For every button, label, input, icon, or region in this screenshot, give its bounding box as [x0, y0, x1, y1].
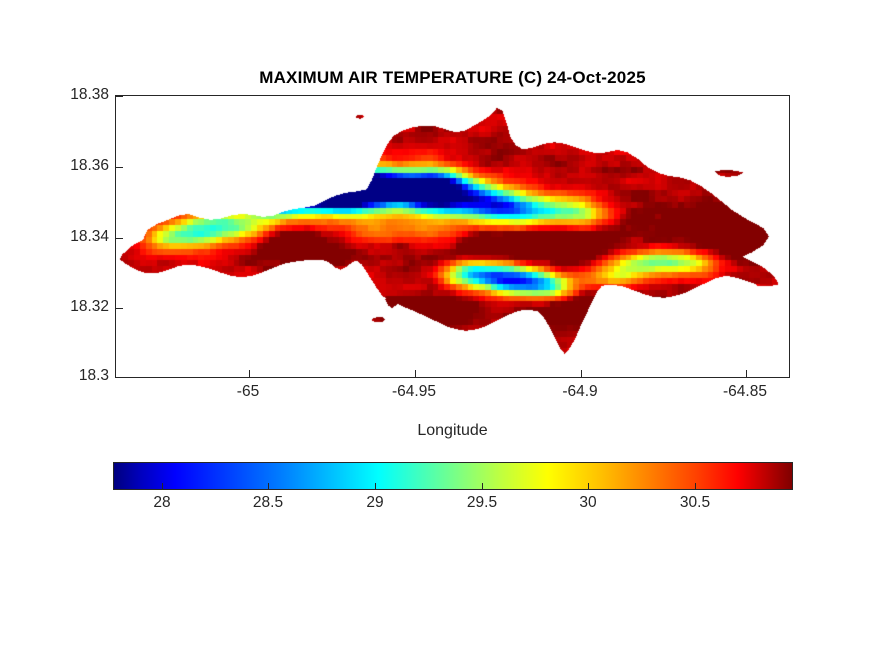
colorbar-tick-label: 29 — [325, 494, 425, 512]
x-tick-mark — [249, 370, 250, 377]
y-tick-label: 18.34 — [47, 228, 109, 246]
x-tick-label: -64.9 — [535, 383, 625, 401]
page-title: MAXIMUM AIR TEMPERATURE (C) 24-Oct-2025 — [115, 68, 790, 88]
colorbar-tick-labels: 28 28.5 29 29.5 30 30.5 — [63, 494, 843, 518]
x-tick-mark — [415, 370, 416, 377]
x-axis-title: Longitude — [115, 422, 790, 440]
figure-canvas: MAXIMUM AIR TEMPERATURE (C) 24-Oct-2025 … — [0, 0, 875, 656]
y-tick-label: 18.38 — [47, 86, 109, 104]
x-tick-mark — [746, 370, 747, 377]
colorbar-tick-mark — [162, 483, 163, 490]
y-tick-label: 18.36 — [47, 157, 109, 175]
x-tick-label: -65 — [203, 383, 293, 401]
x-axis-tick-labels: -65 -64.95 -64.9 -64.85 — [70, 383, 835, 405]
y-tick-mark — [116, 377, 123, 378]
colorbar-tick-marks — [113, 483, 793, 491]
x-tick-label: -64.85 — [700, 383, 790, 401]
map-axes[interactable] — [115, 95, 790, 378]
y-axis-tick-labels: 18.38 18.36 18.34 18.32 18.3 — [43, 95, 109, 378]
colorbar-tick-mark — [268, 483, 269, 490]
y-tick-mark — [116, 238, 123, 239]
x-tick-mark — [581, 370, 582, 377]
x-tick-label: -64.95 — [369, 383, 459, 401]
y-tick-mark — [116, 167, 123, 168]
y-tick-label: 18.32 — [47, 298, 109, 316]
colorbar-tick-mark — [482, 483, 483, 490]
colorbar-tick-label: 28.5 — [218, 494, 318, 512]
y-tick-mark — [116, 308, 123, 309]
colorbar-tick-label: 28 — [112, 494, 212, 512]
y-tick-mark — [116, 96, 123, 97]
colorbar-tick-mark — [588, 483, 589, 490]
colorbar-tick-label: 30 — [538, 494, 638, 512]
colorbar-tick-label: 30.5 — [645, 494, 745, 512]
temperature-heatmap[interactable] — [116, 96, 789, 377]
colorbar-tick-mark — [375, 483, 376, 490]
colorbar-tick-mark — [695, 483, 696, 490]
colorbar-tick-label: 29.5 — [432, 494, 532, 512]
